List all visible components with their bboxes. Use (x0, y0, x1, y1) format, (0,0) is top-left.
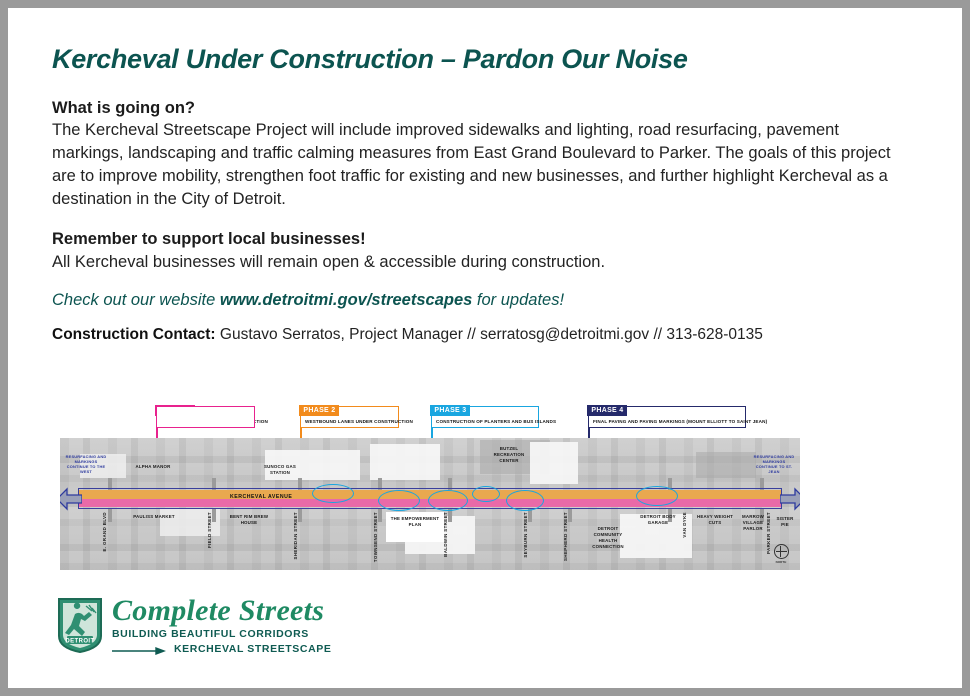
west-direction-arrow (60, 484, 80, 514)
phase-tag-4: PHASE 4 (587, 405, 627, 416)
section-heading-what: What is going on? (52, 97, 922, 119)
street-label-field-street: FIELD STREET (207, 512, 213, 548)
bus-island-marker (636, 486, 678, 506)
cross-street-mark (108, 508, 112, 522)
road-name-label: KERCHEVAL AVENUE (230, 494, 292, 500)
bus-island-marker (428, 490, 468, 511)
bus-island-marker (472, 486, 500, 502)
east-direction-arrow (780, 484, 800, 514)
phase-box-4: PHASE 4 FINAL PAVING AND PAVING MARKINGS… (588, 406, 746, 428)
section-body-support: All Kercheval businesses will remain ope… (52, 251, 897, 274)
compass-circle (774, 544, 789, 559)
flyer-content: Kercheval Under Construction – Pardon Ou… (52, 44, 922, 344)
logo-text-block: Complete Streets BUILDING BEAUTIFUL CORR… (112, 596, 331, 655)
phase-desc-3: CONSTRUCTION OF PLANTERS AND BUS ISLANDS (436, 419, 556, 424)
place-label-detroit-body-garage: DETROIT BODY GARAGE (638, 514, 678, 526)
place-label-sunoco-gas-station: SUNOCO GAS STATION (256, 464, 304, 476)
complete-streets-logo: DETROIT Complete Streets BUILDING BEAUTI… (56, 596, 356, 658)
street-label-baldwin-street: BALDWIN STREET (443, 512, 449, 557)
street-label-shepherd-street: SHEPHERD STREET (563, 512, 569, 561)
place-label-pauliss-market: PAULISS MARKET (132, 514, 176, 520)
street-label-e-grand-blvd: E. GRAND BLVD (102, 512, 108, 552)
flyer-page: Kercheval Under Construction – Pardon Ou… (8, 8, 962, 688)
place-label-butzel-recreation-center: BUTZEL RECREATION CENTER (485, 446, 533, 464)
project-map: PHASE 1 EASTBOUND LANES UNDER CONSTRUCTI… (60, 406, 800, 570)
website-url[interactable]: www.detroitmi.gov/streetscapes (220, 291, 472, 309)
bus-island-marker (312, 484, 354, 503)
phase-box-1-border (156, 406, 255, 428)
place-label-the-empowerment-plan: THE EMPOWERMENT PLAN (388, 516, 442, 528)
section-heading-support: Remember to support local businesses! (52, 228, 922, 250)
svg-text:DETROIT: DETROIT (65, 639, 94, 645)
contact-label: Construction Contact: (52, 326, 216, 343)
street-label-townsend-street: TOWNSEND STREET (373, 512, 379, 562)
compass-rose-icon: NORTH (772, 544, 790, 564)
logo-wordmark: Complete Streets (112, 596, 331, 626)
west-continuation-note: RESURFACING AND MARKINGS CONTINUE TO THE… (64, 454, 108, 474)
place-label-alpha-manor: ALPHA MANOR (130, 464, 176, 470)
arrow-icon (112, 646, 170, 658)
page-title: Kercheval Under Construction – Pardon Ou… (52, 44, 922, 75)
phase-tag-2: PHASE 2 (299, 405, 339, 416)
compass-label: NORTH (772, 560, 790, 564)
street-label-sheridan-street: SHERIDAN STREET (293, 512, 299, 559)
logo-tagline-1: BUILDING BEAUTIFUL CORRIDORS (112, 628, 331, 640)
construction-contact: Construction Contact: Gustavo Serratos, … (52, 326, 922, 344)
phase-box-3: PHASE 3 CONSTRUCTION OF PLANTERS AND BUS… (431, 406, 539, 428)
east-continuation-note: RESURFACING AND MARKINGS CONTINUE TO ST.… (752, 454, 796, 474)
website-line: Check out our website www.detroitmi.gov/… (52, 291, 922, 310)
street-label-van-dyke: VAN DYKE (682, 512, 688, 538)
website-prefix: Check out our website (52, 291, 220, 309)
phase-tag-3: PHASE 3 (430, 405, 470, 416)
building-block (370, 444, 440, 480)
phase-desc-4: FINAL PAVING AND PAVING MARKINGS (MOUNT … (593, 419, 767, 424)
contact-value: Gustavo Serratos, Project Manager // ser… (216, 326, 763, 343)
place-label-detroit-community-health-connection: DETROIT COMMUNITY HEALTH CONNECTION (584, 526, 632, 550)
spirit-of-detroit-shield-icon: DETROIT (56, 596, 104, 654)
building-block (696, 452, 756, 478)
building-block (530, 442, 578, 484)
spacer (52, 210, 922, 228)
bus-island-marker (506, 490, 544, 511)
section-body-what: The Kercheval Streetscape Project will i… (52, 119, 897, 210)
place-label-heavy-weight-cuts: HEAVY WEIGHT CUTS (696, 514, 734, 526)
logo-tagline-2: KERCHEVAL STREETSCAPE (174, 643, 331, 655)
aerial-photo: KERCHEVAL AVENUE RESURFACING AND MA (60, 438, 800, 570)
place-label-sister-pie: SISTER PIE (772, 516, 798, 528)
spacer (52, 273, 922, 291)
website-suffix: for updates! (472, 291, 564, 309)
phase-box-2: PHASE 2 WESTBOUND LANES UNDER CONSTRUCTI… (300, 406, 399, 428)
street-label-seyburn-street: SEYBURN STREET (523, 512, 529, 558)
phase-desc-2: WESTBOUND LANES UNDER CONSTRUCTION (305, 419, 413, 424)
logo-tagline-2-wrap: KERCHEVAL STREETSCAPE (112, 643, 331, 655)
bus-island-marker (378, 490, 420, 511)
place-label-bent-rim-brew-house: BENT RIM BREW HOUSE (226, 514, 272, 526)
